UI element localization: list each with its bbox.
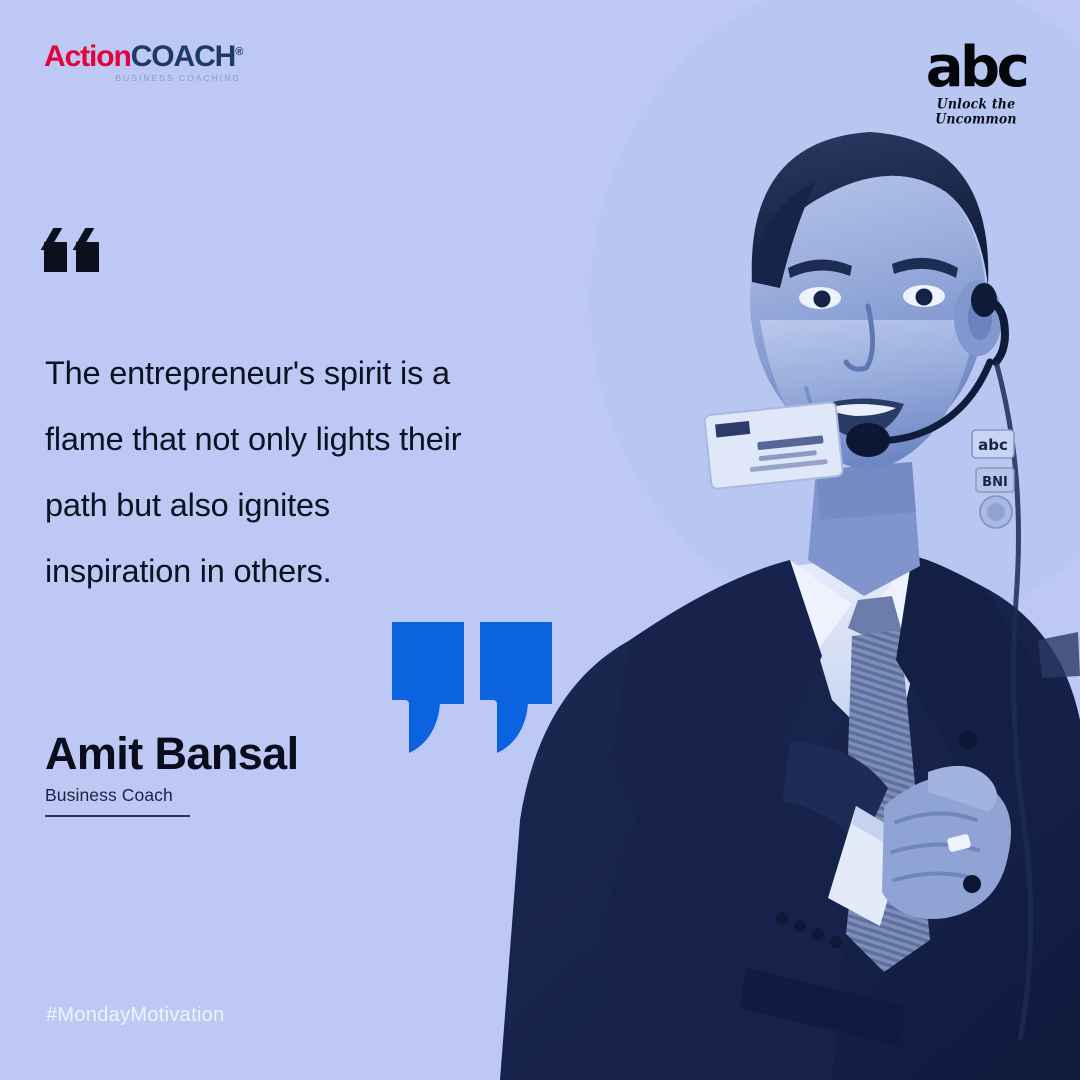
name-badge — [704, 402, 843, 489]
opening-quote-mark-right — [76, 228, 99, 272]
quote-poster: abc BNI — [0, 0, 1080, 1080]
svg-text:abc: abc — [978, 436, 1008, 454]
actioncoach-logo: ActionCOACH® BUSINESS COACHING — [44, 42, 244, 86]
actioncoach-word-action: Action — [44, 40, 131, 73]
abc-tagline: Unlock the Uncommon — [918, 98, 1034, 126]
closing-quote-right-stem — [480, 622, 552, 704]
opening-quote-icon — [44, 228, 99, 272]
hashtag-label: #MondayMotivation — [46, 1004, 225, 1027]
abc-logo: abc Unlock the Uncommon — [918, 40, 1034, 124]
actioncoach-wordmark: ActionCOACH® — [44, 42, 244, 72]
quote-line-4: inspiration in others. — [45, 538, 525, 604]
speaker-photo-illustration: abc BNI — [460, 0, 1080, 1080]
closing-quote-mark-left — [392, 622, 464, 754]
quote-line-3: path but also ignites — [45, 472, 525, 538]
person-role: Business Coach — [45, 785, 465, 806]
closing-quote-icon — [392, 622, 552, 754]
attribution-divider — [45, 815, 190, 817]
actioncoach-word-coach: COACH — [131, 40, 236, 73]
closing-quote-mark-right — [480, 622, 552, 754]
quote-line-1: The entrepreneur's spirit is a — [45, 340, 525, 406]
closing-quote-left-notch — [392, 700, 409, 756]
actioncoach-tagline: BUSINESS COACHING — [44, 74, 244, 82]
closing-quote-left-stem — [392, 622, 464, 704]
quote-text: The entrepreneur's spirit is a flame tha… — [45, 340, 525, 604]
abc-wordmark: abc — [918, 40, 1034, 96]
speaker-photo: abc BNI — [460, 0, 1080, 1080]
quote-line-2: flame that not only lights their — [45, 406, 525, 472]
opening-quote-mark-left — [44, 228, 67, 272]
registered-mark-icon: ® — [235, 46, 242, 58]
closing-quote-right-notch — [480, 700, 497, 756]
svg-text:BNI: BNI — [982, 475, 1008, 490]
